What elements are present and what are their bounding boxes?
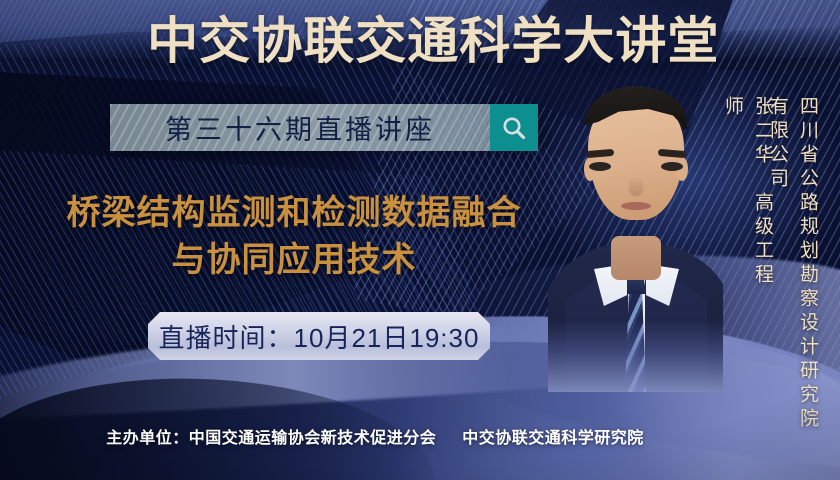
organizer-1: 中国交通运输协会新技术促进分会 bbox=[189, 430, 437, 447]
lecture-topic-line-1: 桥梁结构监测和检测数据融合 bbox=[67, 194, 522, 232]
speaker-eye-right bbox=[661, 162, 683, 171]
organizers-prefix: 主办单位： bbox=[106, 430, 189, 447]
broadcast-time-text: 直播时间：10月21日19:30 bbox=[159, 318, 480, 355]
speaker-neck bbox=[611, 236, 661, 280]
episode-banner: 第三十六期直播讲座 bbox=[110, 104, 538, 151]
broadcast-time-badge: 直播时间：10月21日19:30 bbox=[148, 312, 490, 360]
live-lecture-poster: 中交协联交通科学大讲堂 第三十六期直播讲座 桥梁结构监测和检测数据融合 与协同应… bbox=[0, 0, 840, 480]
organizer-2: 中交协联交通科学研究院 bbox=[462, 430, 644, 447]
speaker-organization: 四川省公路规划勘察设计研究院有限公司 bbox=[762, 96, 822, 446]
episode-label: 第三十六期直播讲座 bbox=[165, 108, 435, 147]
lecture-topic-line-2: 与协同应用技术 bbox=[34, 237, 554, 284]
speaker-eye-left bbox=[589, 162, 611, 171]
lecture-topic: 桥梁结构监测和检测数据融合 与协同应用技术 bbox=[34, 190, 554, 284]
speaker-mouth bbox=[621, 202, 651, 210]
speaker-photo-fade bbox=[548, 320, 723, 392]
search-icon[interactable] bbox=[490, 104, 538, 151]
speaker-nose bbox=[628, 176, 643, 196]
episode-banner-body: 第三十六期直播讲座 bbox=[110, 104, 490, 151]
speaker-photo bbox=[548, 62, 723, 392]
organizers-footer: 主办单位：中国交通运输协会新技术促进分会中交协联交通科学研究院 bbox=[0, 424, 840, 448]
